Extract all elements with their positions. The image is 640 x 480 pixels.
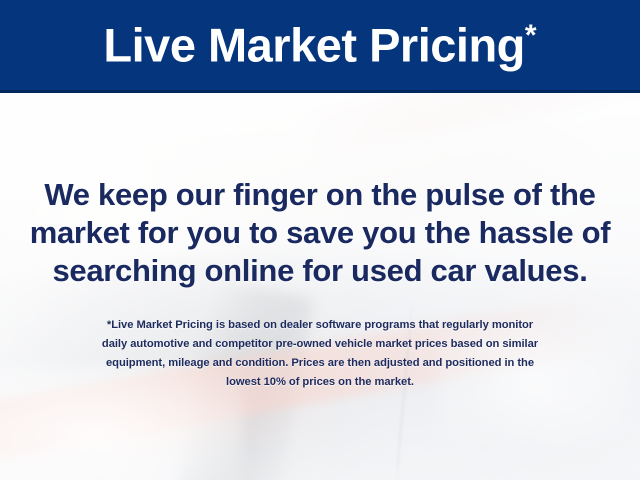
headline-text: We keep our finger on the pulse of the m… xyxy=(0,176,640,290)
disclaimer-line-4: lowest 10% of prices on the market. xyxy=(24,373,616,392)
headline-line-3: searching online for used car values. xyxy=(26,252,614,290)
banner-title-text: Live Market Pricing xyxy=(103,18,525,71)
headline-line-2: market for you to save you the hassle of xyxy=(26,214,614,252)
banner-title-asterisk: * xyxy=(525,19,537,52)
headline-line-1: We keep our finger on the pulse of the xyxy=(26,176,614,214)
disclaimer-line-3: equipment, mileage and condition. Prices… xyxy=(24,354,616,373)
header-band: Live Market Pricing* xyxy=(0,0,640,93)
disclaimer-line-2: daily automotive and competitor pre-owne… xyxy=(24,335,616,354)
banner-title: Live Market Pricing* xyxy=(103,21,536,69)
disclaimer-text: *Live Market Pricing is based on dealer … xyxy=(0,316,640,392)
disclaimer-line-1: *Live Market Pricing is based on dealer … xyxy=(24,316,616,335)
banner-content: We keep our finger on the pulse of the m… xyxy=(0,93,640,480)
live-market-pricing-banner: Live Market Pricing* We keep our finger … xyxy=(0,0,640,480)
